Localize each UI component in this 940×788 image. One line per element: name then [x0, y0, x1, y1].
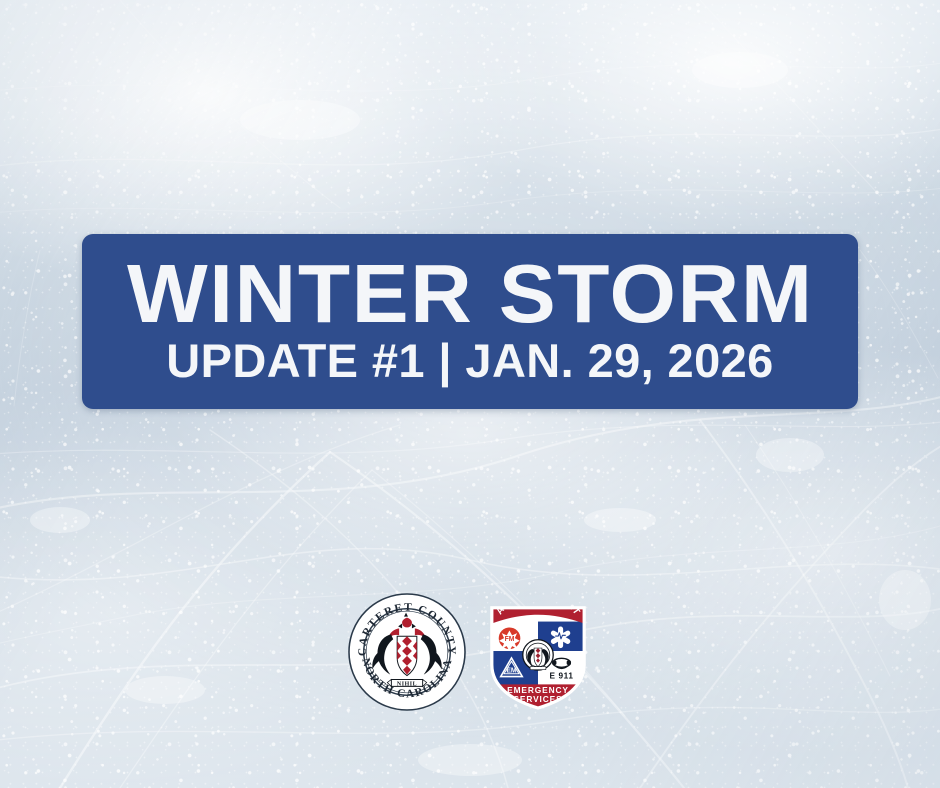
banner-subtitle: UPDATE #1 | JAN. 29, 2026 — [166, 337, 773, 385]
carteret-county-emergency-services-badge-icon: CARTERET COUNTY EMERGENCY SERVICES FM — [484, 594, 592, 710]
headline-banner: WINTER STORM UPDATE #1 | JAN. 29, 2026 — [82, 234, 858, 409]
banner-title: WINTER STORM — [127, 254, 814, 335]
winter-storm-graphic: WINTER STORM UPDATE #1 | JAN. 29, 2026 C… — [0, 0, 940, 788]
badge-center-seal-icon — [523, 640, 553, 670]
seal-motto-scroll: NIHIL — [387, 680, 426, 688]
logo-row: CARTERET COUNTY NORTH CAROLINA — [0, 592, 940, 712]
carteret-county-seal-icon: CARTERET COUNTY NORTH CAROLINA — [348, 593, 466, 711]
svg-text:FM: FM — [505, 636, 515, 643]
badge-e911-label: E 911 — [550, 672, 574, 681]
svg-text:NIHIL: NIHIL — [397, 681, 417, 687]
svg-text:EM: EM — [506, 668, 517, 675]
